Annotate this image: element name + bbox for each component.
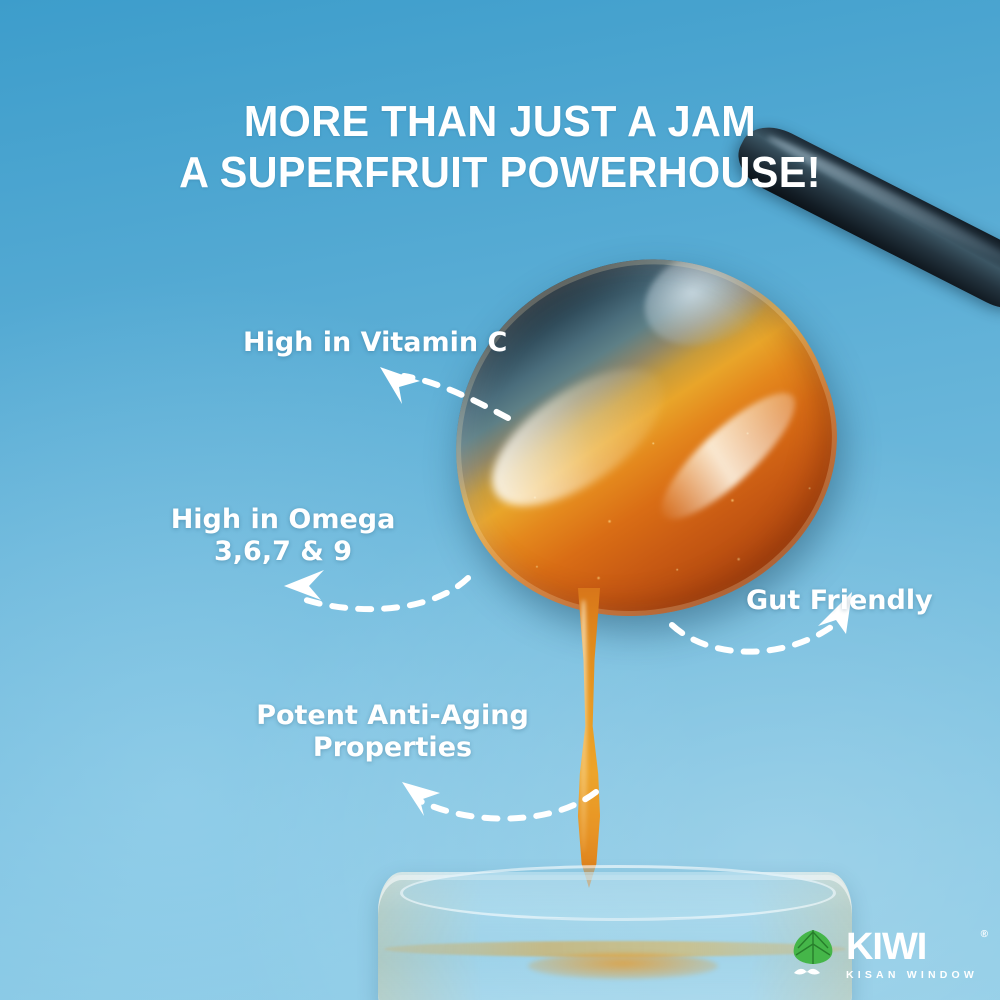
poster-canvas: MORE THAN JUST A JAM A SUPERFRUIT POWERH… [0,0,1000,1000]
headline: MORE THAN JUST A JAM A SUPERFRUIT POWERH… [30,96,970,199]
jar-jam-pool [528,953,718,979]
benefit-label-omega: High in Omega 3,6,7 & 9 [168,504,398,568]
brand-wordmark: KIWI ® KISAN WINDOW [846,928,978,981]
brand-logo: KIWI ® KISAN WINDOW [790,926,978,982]
brand-name-text: KIWI [846,926,926,968]
brand-tagline: KISAN WINDOW [846,970,978,981]
kiwi-leaf-icon [790,926,836,982]
benefit-label-vitamin-c: High in Vitamin C [243,327,507,359]
benefit-label-gut-friendly: Gut Friendly [746,585,933,617]
benefit-label-anti-aging: Potent Anti-Aging Properties [250,700,535,764]
glass-jar [378,872,852,1000]
jar-rim [400,865,836,921]
registered-trademark-icon: ® [981,930,987,940]
brand-name: KIWI ® [846,928,978,966]
